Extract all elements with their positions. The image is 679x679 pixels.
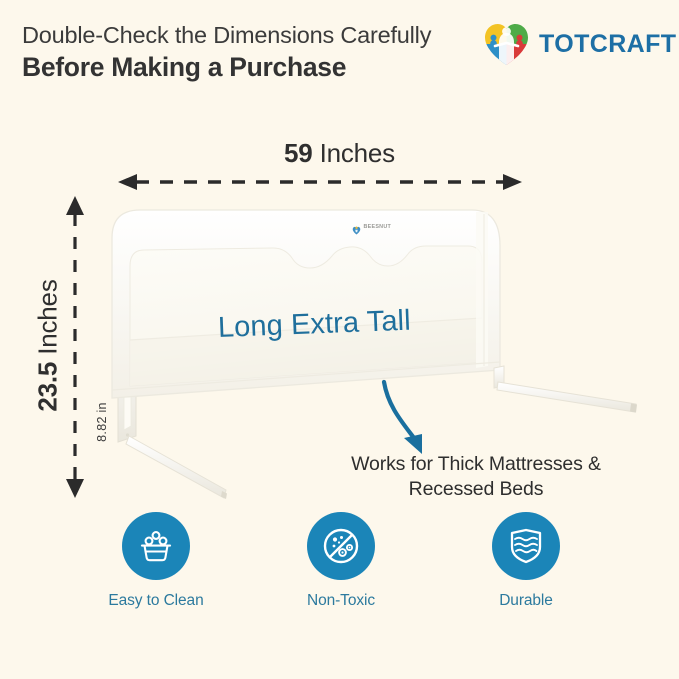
heart-logo-icon — [483, 22, 530, 66]
height-dimension-label: 23.5 Inches — [33, 226, 64, 466]
width-dimension-label: 59 Inches — [0, 138, 679, 169]
height-dimension-value: 23.5 — [33, 362, 63, 412]
no-germs-icon — [307, 512, 375, 580]
height-dimension-unit: Inches — [33, 279, 63, 354]
shield-waves-icon — [492, 512, 560, 580]
brand-name: TOTCRAFT — [539, 30, 676, 59]
double-arrow-vertical-icon — [62, 196, 88, 498]
callout-text: Works for Thick Mattresses & Recessed Be… — [296, 452, 656, 502]
feature-label: Easy to Clean — [108, 592, 203, 610]
width-dimension-unit: Inches — [320, 138, 395, 168]
product-badge: BEESNUT — [352, 222, 391, 231]
infographic-canvas: Double-Check the Dimensions Carefully Be… — [0, 0, 679, 679]
feature-list: Easy to Clean — [96, 512, 586, 622]
callout-line-1: Works for Thick Mattresses & — [296, 452, 656, 477]
width-dimension-value: 59 — [284, 138, 313, 168]
feature-label: Non-Toxic — [307, 592, 375, 610]
wash-basin-bubbles-icon — [122, 512, 190, 580]
brand-lockup: TOTCRAFT — [483, 22, 676, 66]
feature-item-easy-to-clean[interactable]: Easy to Clean — [96, 512, 216, 610]
beesnut-mark-icon — [352, 222, 361, 231]
callout-line-2: Recessed Beds — [296, 477, 656, 502]
feature-label: Durable — [499, 592, 553, 610]
feature-item-non-toxic[interactable]: Non-Toxic — [281, 512, 401, 610]
product-badge-text: BEESNUT — [364, 224, 392, 230]
feature-item-durable[interactable]: Durable — [466, 512, 586, 610]
